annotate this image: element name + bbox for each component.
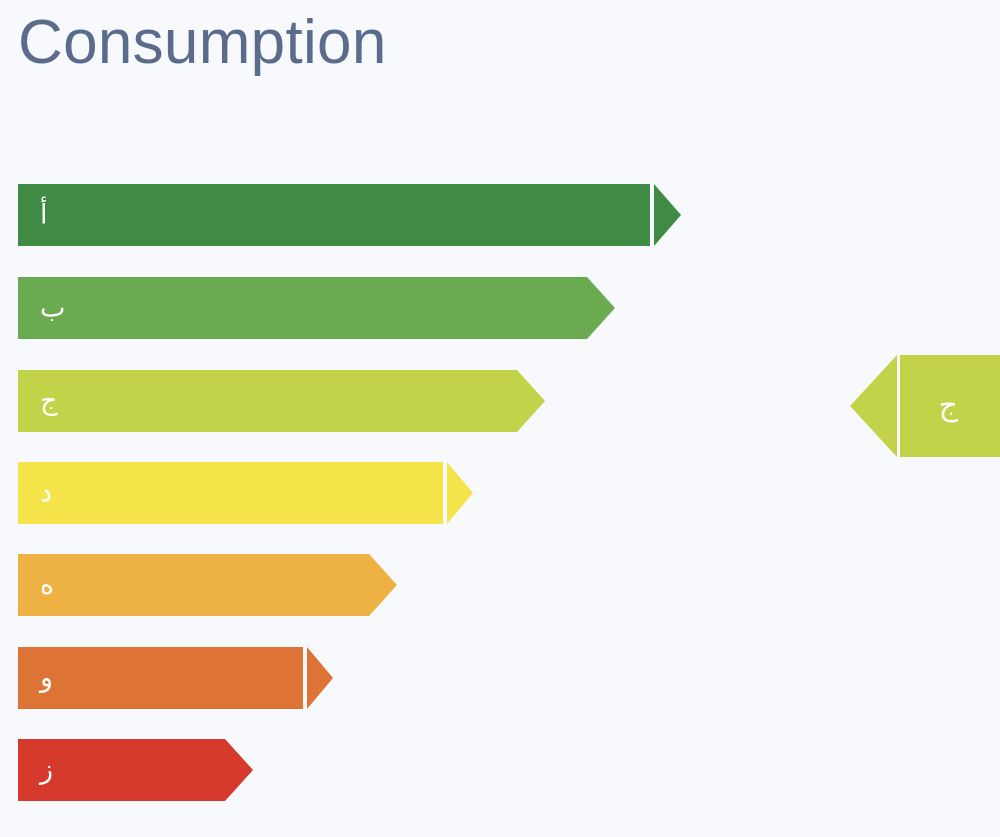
bar-row[interactable]: أ <box>18 184 681 246</box>
consumption-bar-chart: أبجدهوزج <box>0 0 1000 837</box>
bar-zain-arrow-icon <box>225 739 253 801</box>
bar-dal-body <box>18 462 443 524</box>
bar-zain-body <box>18 739 225 801</box>
bar-heh-body <box>18 554 369 616</box>
bar-waw-body <box>18 647 303 709</box>
bar-row[interactable]: ب <box>18 277 615 339</box>
bar-row[interactable]: ز <box>18 739 253 801</box>
bar-row-rtl[interactable]: ج <box>850 355 1000 457</box>
bar-row[interactable]: و <box>18 647 333 709</box>
bar-jeem-body <box>18 370 517 432</box>
bar-alef-arrow-icon <box>654 184 681 246</box>
bar-row[interactable]: ه <box>18 554 397 616</box>
bar-heh-arrow-icon <box>369 554 397 616</box>
bar-waw-arrow-icon <box>307 647 333 709</box>
bar-jeem-rtl-arrow-icon <box>850 355 897 457</box>
bar-alef-body <box>18 184 650 246</box>
bar-jeem-arrow-icon <box>517 370 545 432</box>
bar-row[interactable]: ج <box>18 370 545 432</box>
bar-beh-arrow-icon <box>587 277 615 339</box>
bar-row[interactable]: د <box>18 462 473 524</box>
bar-dal-arrow-icon <box>447 462 473 524</box>
bar-beh-body <box>18 277 587 339</box>
page-root: Consumption أبجدهوزج <box>0 0 1000 837</box>
bar-jeem-rtl-body <box>900 355 1000 457</box>
